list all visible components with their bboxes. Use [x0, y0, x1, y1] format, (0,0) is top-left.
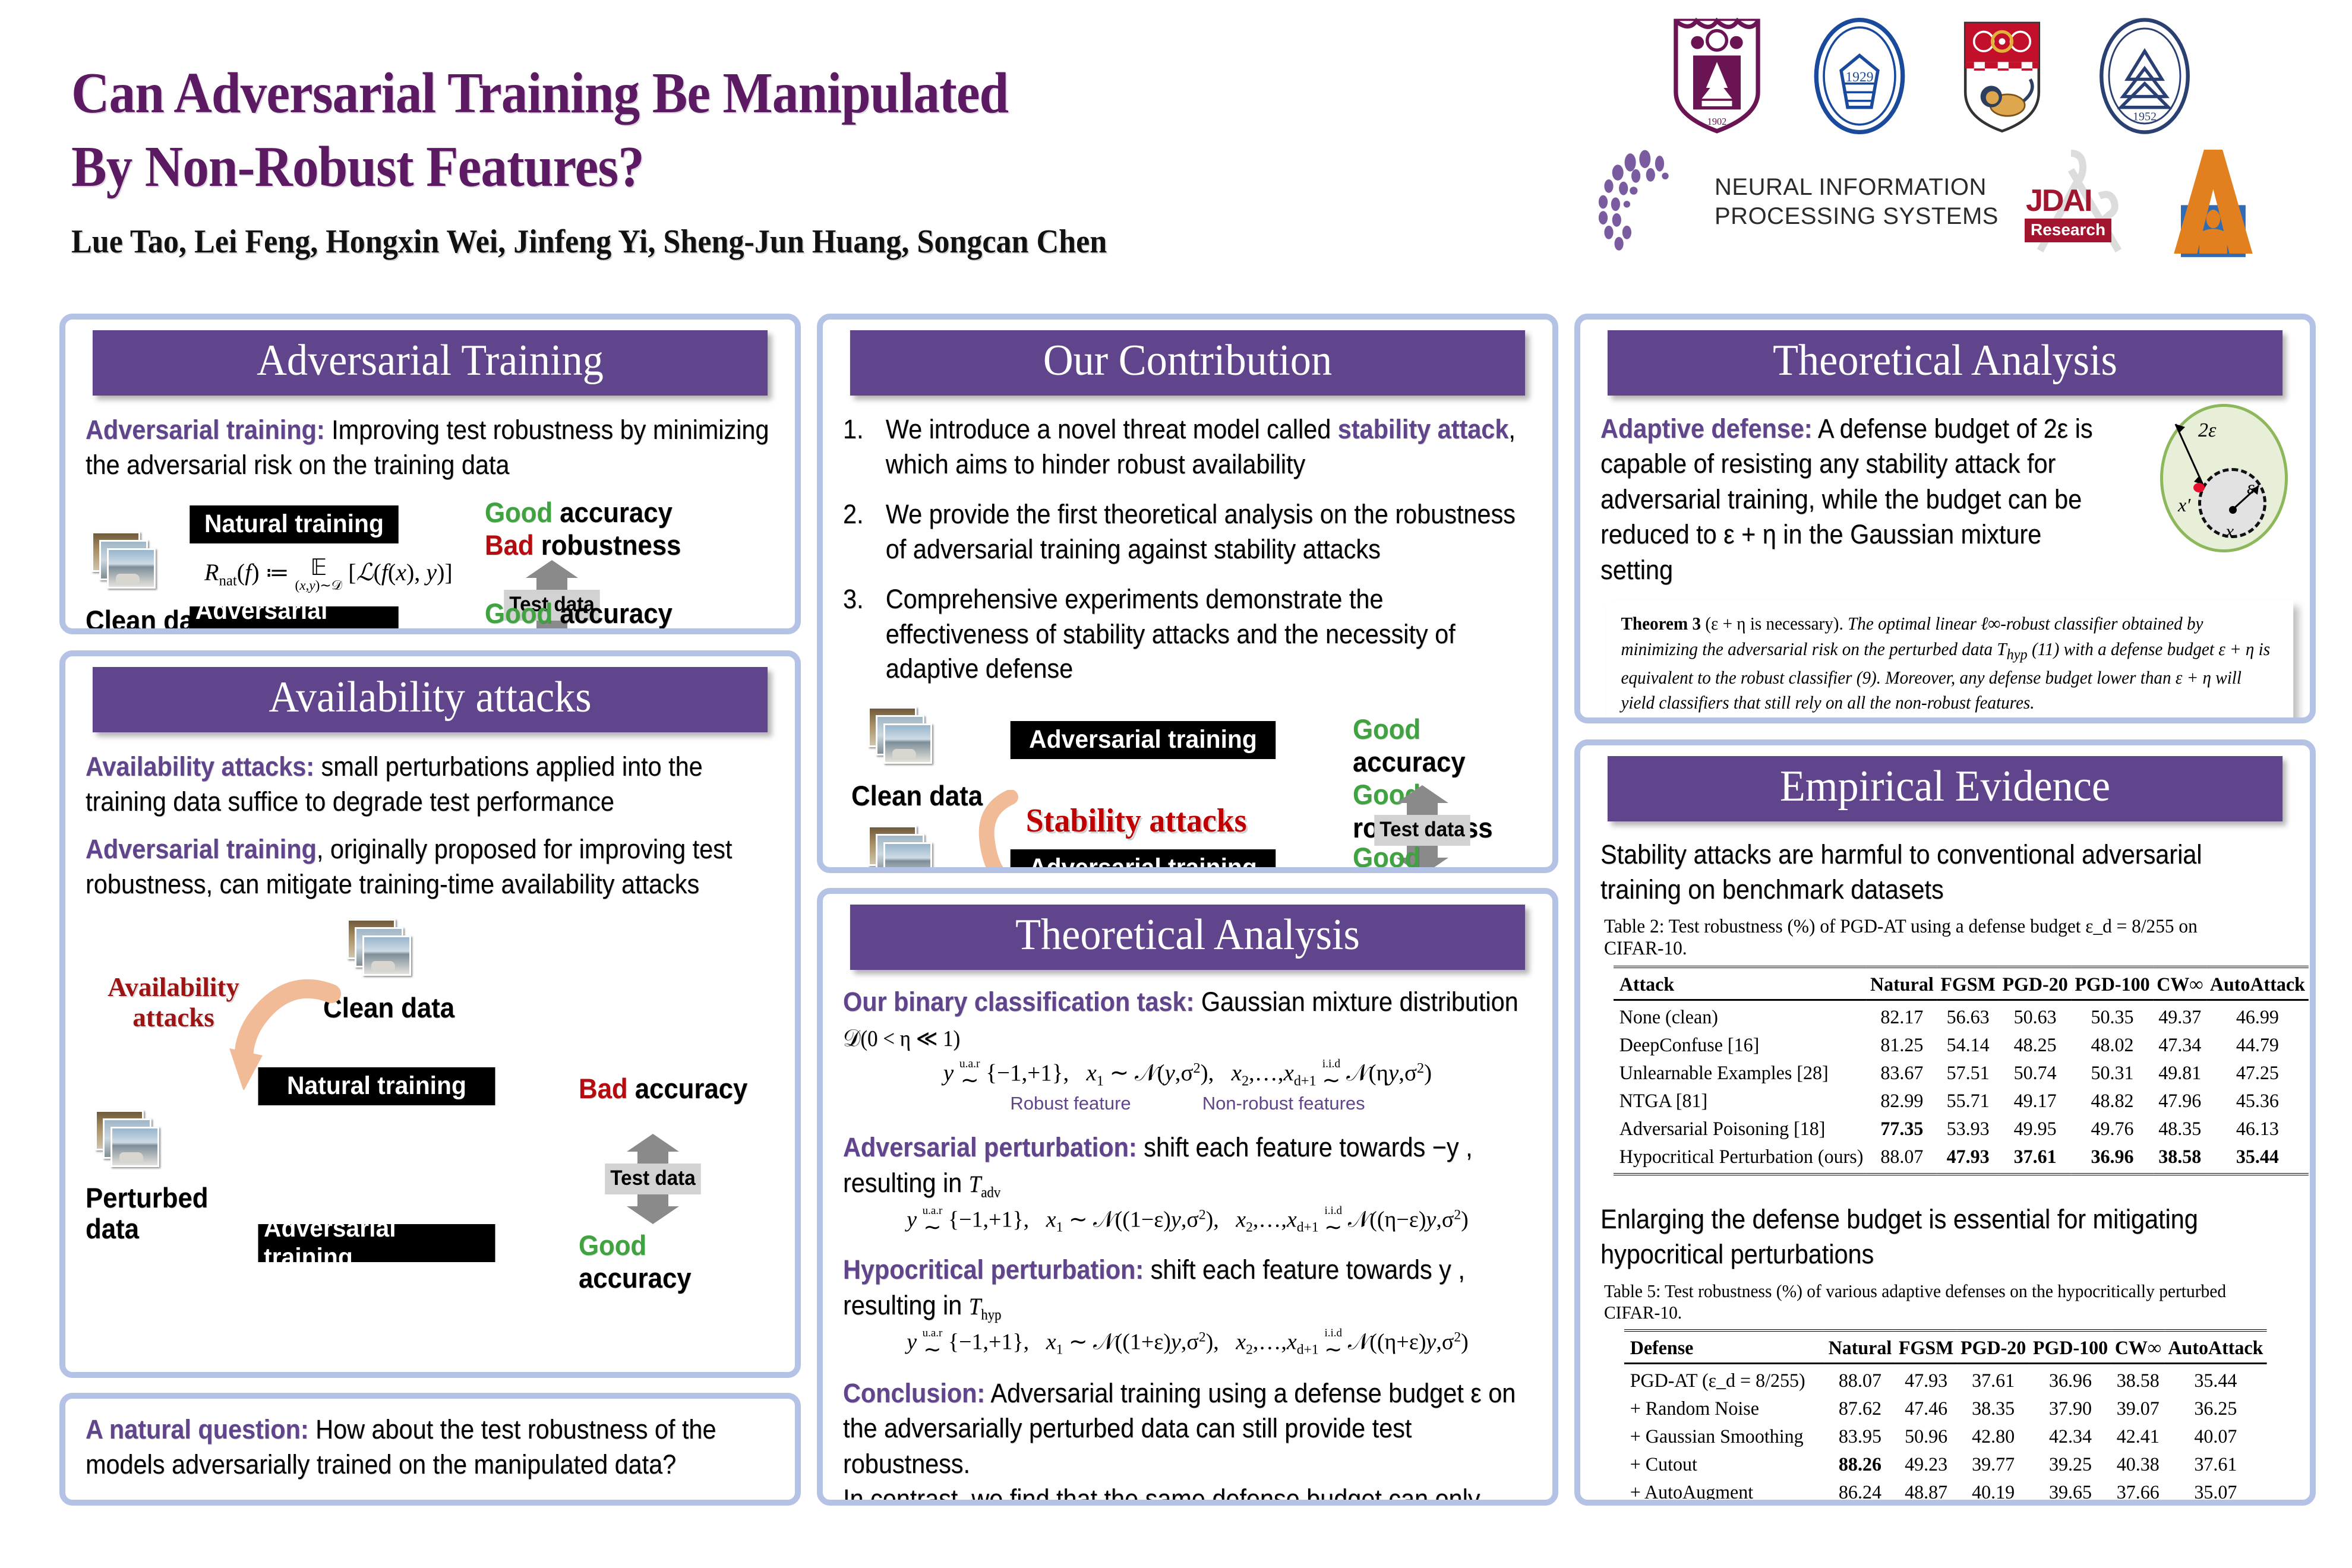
cell-value: 36.96 — [2072, 1143, 2154, 1174]
adversarial-training-arrow-label: Adversarial training — [1011, 849, 1276, 874]
col-cw: CW∞ — [2153, 967, 2206, 1000]
panel-availability-attacks: Availability attacks Availability attack… — [59, 650, 801, 1378]
col-attack: Attack — [1614, 967, 1867, 1000]
col-fgsm: FGSM — [1937, 967, 1999, 1000]
cell-value: 42.34 — [2029, 1423, 2111, 1451]
cell-value: 83.67 — [1867, 1060, 1937, 1088]
perturbed-data-image-stack — [95, 1110, 165, 1177]
panel-title-empirical-evidence: Empirical Evidence — [1608, 756, 2282, 821]
adversarial-training-outcome: Good accuracy Good robustness — [485, 597, 700, 634]
cell-value: 49.17 — [1999, 1088, 2072, 1115]
binary-task-statement: Our binary classification task: Gaussian… — [843, 984, 1532, 1055]
adversarial-training-arrow-label: Adversarial training — [1011, 721, 1276, 759]
col-autoattack: AutoAttack — [2165, 1330, 2267, 1364]
table-row: + Gaussian Smoothing83.9550.9642.8042.34… — [1624, 1423, 2266, 1451]
cell-value: 46.13 — [2206, 1115, 2309, 1143]
binary-task-lead: Our binary classification task: — [843, 987, 1194, 1017]
test-data-label: Test data — [605, 1164, 701, 1194]
row-label: Adversarial Poisoning [18] — [1614, 1115, 1867, 1143]
cell-value: 50.96 — [1895, 1423, 1957, 1451]
theorem-3-paren: (ε + η is necessary). — [1705, 613, 1843, 634]
ball-2eps-label: 2ε — [2198, 419, 2216, 442]
cell-value: 38.58 — [2111, 1363, 2165, 1395]
cell-value: 36.96 — [2029, 1363, 2111, 1395]
cell-value: 50.35 — [2072, 1000, 2154, 1032]
table-row: + AutoAugment86.2448.8740.1939.6537.6635… — [1624, 1479, 2266, 1506]
panel-title-adversarial-training: Adversarial Training — [93, 330, 768, 396]
col-defense: Defense — [1624, 1330, 1825, 1364]
panel-natural-question: A natural question: How about the test r… — [59, 1393, 801, 1506]
col-pgd20: PGD-20 — [1957, 1330, 2029, 1364]
table-2: Attack Natural FGSM PGD-20 PGD-100 CW∞ A… — [1614, 966, 2309, 1175]
table-row: Adversarial Poisoning [18]77.3553.9349.9… — [1614, 1115, 2309, 1143]
nuaa-logo: 1952 — [2085, 17, 2204, 135]
cell-value: 49.76 — [2072, 1115, 2154, 1143]
table-row: Unlearnable Examples [28]83.6757.5150.74… — [1614, 1060, 2309, 1088]
lion-shield-logo — [1943, 17, 2061, 135]
outcome-accuracy-text: accuracy — [553, 598, 673, 629]
outcome-good-robustness: Good — [485, 630, 553, 634]
test-data-indicator: Test data — [602, 1134, 703, 1224]
table-row: + Random Noise87.6247.4638.3537.9039.073… — [1624, 1395, 2266, 1423]
chongqing-university-logo: 1929 — [1800, 17, 1919, 135]
natural-training-outcome: Bad accuracy — [579, 1072, 747, 1105]
cell-value: 88.07 — [1825, 1363, 1895, 1395]
col-cw: CW∞ — [2111, 1330, 2165, 1364]
contribution-2-text: We provide the first theoretical analysi… — [886, 499, 1516, 564]
cell-value: 38.58 — [2153, 1143, 2206, 1174]
table-5-caption: Table 5: Test robustness (%) of various … — [1604, 1281, 2255, 1323]
row-label: None (clean) — [1614, 1000, 1867, 1032]
x-point — [2229, 506, 2237, 514]
cell-value: 37.90 — [2029, 1395, 2111, 1423]
cell-value: 87.62 — [1825, 1395, 1895, 1423]
panel-adversarial-training: Adversarial Training Adversarial trainin… — [59, 314, 801, 634]
panel-title-our-contribution: Our Contribution — [850, 330, 1525, 396]
adversarial-training-diagram: Clean data Natural training Good accurac… — [86, 495, 775, 634]
outcome-good-accuracy: Good — [485, 497, 553, 528]
table-2-wrapper: Attack Natural FGSM PGD-20 PGD-100 CW∞ A… — [1614, 966, 2285, 1175]
nuaa-year: 1952 — [2133, 110, 2157, 123]
panel-title-theoretical-analysis-mid: Theoretical Analysis — [850, 905, 1525, 970]
cell-value: 50.74 — [1999, 1060, 2072, 1088]
cell-value: 35.07 — [2165, 1479, 2267, 1506]
hypocritical-perturbation-lead: Hypocritical perturbation: — [843, 1254, 1144, 1285]
table-row: PGD-AT (ε_d = 8/255)88.0747.9337.6136.96… — [1624, 1363, 2266, 1395]
contribution-list: We introduce a novel threat model called… — [843, 412, 1532, 687]
cell-value: 57.51 — [1937, 1060, 1999, 1088]
outcome-robustness-text: robustness — [534, 529, 681, 561]
cell-value: 49.95 — [1999, 1115, 2072, 1143]
adversarial-training-outcome: Good accuracy — [579, 1229, 761, 1295]
outcome-good-accuracy: Good — [1353, 842, 1420, 873]
table-row: DeepConfuse [16]81.2554.1448.2548.0247.3… — [1614, 1032, 2309, 1060]
adversarial-training-arrow-label: Adversarial training — [190, 606, 399, 634]
cell-value: 49.23 — [1895, 1451, 1957, 1479]
panel-empirical-evidence: Empirical Evidence Stability attacks are… — [1574, 739, 2316, 1506]
row-label: + Cutout — [1624, 1451, 1825, 1479]
adversarial-training-arrow-bottom: Adversarial training — [1003, 849, 1283, 874]
panel-title-availability-attacks: Availability attacks — [93, 667, 768, 732]
cell-value: 77.35 — [1867, 1115, 1937, 1143]
title-line-2: By Non-Robust Features? — [71, 130, 1383, 204]
table-header-row: Defense Natural FGSM PGD-20 PGD-100 CW∞ … — [1624, 1330, 2266, 1364]
col-pgd20: PGD-20 — [1999, 967, 2072, 1000]
theory-conclusion: Conclusion: Adversarial training using a… — [843, 1376, 1532, 1481]
hyp-dataset-symbol: T — [969, 1293, 981, 1320]
contribution-1-highlight: stability attack — [1338, 414, 1509, 444]
empirical-claim-2: Enlarging the defense budget is essentia… — [1600, 1202, 2289, 1272]
col-autoattack: AutoAttack — [2206, 967, 2309, 1000]
adversarial-training-arrow-top: Adversarial training — [1003, 721, 1283, 759]
perturbed-data-image-stack — [868, 826, 938, 874]
cell-value: 47.93 — [1895, 1363, 1957, 1395]
cell-value: 36.25 — [2165, 1395, 2267, 1423]
author-list: Lue Tao, Lei Feng, Hongxin Wei, Jinfeng … — [71, 223, 1397, 261]
jdai-research-logo: JDAI Research — [2014, 148, 2145, 255]
cell-value: 44.79 — [2206, 1032, 2309, 1060]
col-fgsm: FGSM — [1895, 1330, 1957, 1364]
adversarial-training-arrow-label: Adversarial training — [258, 1224, 495, 1262]
perturbed-data-label-line2: data — [86, 1213, 208, 1245]
natural-risk-formula: Rnat(f) ≔ 𝔼(x,y)∼𝒟 [ℒ(f(x), y)] — [204, 557, 453, 593]
outcome-robustness-text: robustness — [553, 630, 700, 634]
arrow-up-icon — [1396, 785, 1448, 803]
outcome-accuracy-text: accuracy — [553, 497, 673, 528]
adversarial-perturbation-statement: Adversarial perturbation: shift each fea… — [843, 1130, 1532, 1203]
outcome-bad-robustness: Bad — [485, 529, 534, 561]
robust-feature-label: Robust feature — [1010, 1093, 1131, 1114]
adaptive-defense-statement: Adaptive defense: A defense budget of 2ε… — [1600, 411, 2095, 587]
non-robust-features-label: Non-robust features — [1202, 1093, 1365, 1114]
cell-value: 53.93 — [1937, 1115, 1999, 1143]
page-title: Can Adversarial Training Be Manipulated … — [71, 56, 1383, 204]
cell-value: 49.37 — [2153, 1000, 2206, 1032]
a-institute-logo — [2160, 147, 2264, 257]
gaussian-mixture-formula: y u.a.r∼ {−1,+1}, x1 ∼ 𝒩(y,σ2), x2,…,xd+… — [843, 1058, 1532, 1092]
row-label: + AutoAugment — [1624, 1479, 1825, 1506]
stability-attacks-annotation: Stability attacks — [1026, 802, 1247, 840]
binary-task-rest: Gaussian mixture distribution — [1194, 987, 1518, 1017]
panel-theoretical-analysis-mid: Theoretical Analysis Our binary classifi… — [817, 888, 1558, 1506]
arrow-down-icon — [627, 1206, 679, 1224]
row-label: NTGA [81] — [1614, 1088, 1867, 1115]
cell-value: 46.99 — [2206, 1000, 2309, 1032]
natural-training-arrow-label: Natural training — [190, 505, 399, 543]
natural-training-arrow-label: Natural training — [258, 1067, 495, 1105]
outcome-bad-accuracy: Bad — [579, 1073, 628, 1104]
cell-value: 37.61 — [2165, 1451, 2267, 1479]
col-natural: Natural — [1867, 967, 1937, 1000]
theory-conclusion-line2-wrap: In contrast, we find that the same defen… — [843, 1481, 1532, 1506]
availability-attacks-p2: Adversarial training, originally propose… — [86, 832, 774, 902]
cell-value: 39.77 — [1957, 1451, 2029, 1479]
cell-value: 48.35 — [2153, 1115, 2206, 1143]
col-pgd100: PGD-100 — [2072, 967, 2154, 1000]
cell-value: 37.61 — [1957, 1363, 2029, 1395]
cell-value: 47.34 — [2153, 1032, 2206, 1060]
availability-attacks-p1-lead: Availability attacks: — [86, 751, 314, 782]
cell-value: 55.71 — [1937, 1088, 1999, 1115]
cell-value: 50.31 — [2072, 1060, 2154, 1088]
outcome-good-accuracy: Good — [485, 598, 553, 629]
table-row: + Cutout88.2649.2339.7739.2540.3837.61 — [1624, 1451, 2266, 1479]
poster-header: Can Adversarial Training Be Manipulated … — [0, 0, 2352, 297]
cell-value: 47.96 — [2153, 1088, 2206, 1115]
cell-value: 48.25 — [1999, 1032, 2072, 1060]
table-row: None (clean)82.1756.6350.6350.3549.3746.… — [1614, 1000, 2309, 1032]
table-row: Hypocritical Perturbation (ours)88.0747.… — [1614, 1143, 2309, 1174]
ball-arrows-icon — [2157, 404, 2293, 552]
cell-value: 40.19 — [1957, 1479, 2029, 1506]
university-logos: 1902 1929 — [1658, 12, 2311, 140]
natural-question-lead: A natural question: — [86, 1414, 309, 1444]
hypocritical-perturbation-statement: Hypocritical perturbation: shift each fe… — [843, 1252, 1532, 1325]
table-2-body: None (clean)82.1756.6350.6350.3549.3746.… — [1614, 1000, 2309, 1174]
chongqing-year: 1929 — [1845, 69, 1873, 85]
list-item: We introduce a novel threat model called… — [843, 412, 1532, 482]
availability-attacks-diagram: Clean data Availability attacks Perturbe… — [86, 914, 775, 1330]
our-contribution-diagram: Clean data Adversarial training Good acc… — [843, 702, 1532, 874]
adversarial-training-arrow: Adversarial training — [184, 606, 404, 634]
perturbed-data-label-line1: Perturbed — [86, 1183, 208, 1214]
table-header-row: Attack Natural FGSM PGD-20 PGD-100 CW∞ A… — [1614, 967, 2309, 1000]
adversarial-training-arrow: Adversarial training — [252, 1224, 501, 1262]
jdai-research-label: Research — [2025, 219, 2111, 242]
natural-question-text: A natural question: How about the test r… — [86, 1412, 774, 1482]
cell-value: 48.82 — [2072, 1088, 2154, 1115]
availability-attacks-p2-lead: Adversarial training — [86, 834, 317, 864]
cell-value: 49.81 — [2153, 1060, 2206, 1088]
outcome-good-accuracy: Good — [1353, 713, 1420, 745]
adversarial-perturbation-lead: Adversarial perturbation: — [843, 1132, 1137, 1162]
adversarial-training-intro: Adversarial training: Improving test rob… — [86, 412, 774, 483]
hyp-dataset-subscript: hyp — [981, 1307, 1001, 1323]
cell-value: 40.07 — [2165, 1423, 2267, 1451]
table-5-body: PGD-AT (ε_d = 8/255)88.0747.9337.6136.96… — [1624, 1363, 2266, 1506]
row-label: + Gaussian Smoothing — [1624, 1423, 1825, 1451]
epsilon-ball-diagram: 2ε ε x′ x — [2157, 404, 2293, 552]
adv-dataset-symbol: T — [969, 1171, 981, 1197]
adv-dataset-subscript: adv — [981, 1184, 1000, 1200]
list-item: We provide the first theoretical analysi… — [843, 497, 1532, 567]
cell-value: 35.44 — [2165, 1363, 2267, 1395]
panel-theoretical-analysis-right: Theoretical Analysis Adaptive defense: A… — [1574, 314, 2316, 723]
cell-value: 83.95 — [1825, 1423, 1895, 1451]
table-row: NTGA [81]82.9955.7149.1748.8247.9645.36 — [1614, 1088, 2309, 1115]
cell-value: 47.93 — [1937, 1143, 1999, 1174]
cell-value: 81.25 — [1867, 1032, 1937, 1060]
row-label: PGD-AT (ε_d = 8/255) — [1624, 1363, 1825, 1395]
neurips-dots-icon — [1586, 146, 1699, 258]
table-5: Defense Natural FGSM PGD-20 PGD-100 CW∞ … — [1624, 1329, 2266, 1506]
natural-training-outcome: Good accuracy Bad robustness — [485, 496, 681, 562]
cell-value: 45.36 — [2206, 1088, 2309, 1115]
table-5-wrapper: Defense Natural FGSM PGD-20 PGD-100 CW∞ … — [1624, 1329, 2275, 1506]
cell-value: 40.38 — [2111, 1451, 2165, 1479]
outcome-good-accuracy: Good — [579, 1229, 646, 1261]
cell-value: 39.07 — [2111, 1395, 2165, 1423]
natural-training-arrow: Natural training — [252, 1067, 501, 1105]
row-label: Unlearnable Examples [28] — [1614, 1060, 1867, 1088]
cell-value: 86.24 — [1825, 1479, 1895, 1506]
clean-data-image-stack — [868, 707, 938, 773]
theory-conclusion-lead: Conclusion: — [843, 1378, 985, 1408]
cell-value: 88.26 — [1825, 1451, 1895, 1479]
neurips-line-1: NEURAL INFORMATION — [1715, 173, 1999, 202]
panel-our-contribution: Our Contribution We introduce a novel th… — [817, 314, 1558, 873]
cell-value: 39.65 — [2029, 1479, 2111, 1506]
ball-eps-label: ε — [2247, 476, 2255, 498]
hypocritical-perturbation-formula: y u.a.r∼ {−1,+1}, x1 ∼ 𝒩((1+ε)y,σ2), x2,… — [843, 1327, 1532, 1360]
cell-value: 48.87 — [1895, 1479, 1957, 1506]
cell-value: 54.14 — [1937, 1032, 1999, 1060]
row-label: + Random Noise — [1624, 1395, 1825, 1423]
perturbed-data-label: Perturbed data — [86, 1183, 208, 1245]
title-line-1: Can Adversarial Training Be Manipulated — [71, 56, 1383, 130]
cell-value: 88.07 — [1867, 1143, 1937, 1174]
empirical-claim-1: Stability attacks are harmful to convent… — [1600, 837, 2289, 908]
clean-data-label: Clean data — [851, 779, 983, 812]
cell-value: 47.25 — [2206, 1060, 2309, 1088]
cell-value: 42.80 — [1957, 1423, 2029, 1451]
cell-value: 42.41 — [2111, 1423, 2165, 1451]
cell-value: 39.25 — [2029, 1451, 2111, 1479]
theorem-3-box: Theorem 3 (ε + η is necessary). The opti… — [1606, 600, 2293, 723]
row-label: DeepConfuse [16] — [1614, 1032, 1867, 1060]
cell-value: 82.99 — [1867, 1088, 1937, 1115]
arrow-down-icon — [526, 633, 578, 634]
theorem-3-heading: Theorem 3 — [1621, 613, 1701, 634]
col-natural: Natural — [1825, 1330, 1895, 1364]
cell-value: 56.63 — [1937, 1000, 1999, 1032]
arrow-up-icon — [526, 560, 578, 578]
ball-x-label: x — [2225, 520, 2234, 542]
clean-data-image-stack — [347, 919, 417, 985]
availability-attacks-p1: Availability attacks: small perturbation… — [86, 749, 774, 820]
neurips-wordmark: NEURAL INFORMATION PROCESSING SYSTEMS — [1715, 173, 1999, 231]
contribution-1-pre: We introduce a novel threat model called — [886, 414, 1338, 444]
adversarial-perturbation-formula: y u.a.r∼ {−1,+1}, x1 ∼ 𝒩((1−ε)y,σ2), x2,… — [843, 1205, 1532, 1238]
row-label: Hypocritical Perturbation (ours) — [1614, 1143, 1867, 1174]
theory-conclusion-line2: In contrast, we find that the same defen… — [843, 1484, 1480, 1506]
adaptive-defense-lead: Adaptive defense: — [1600, 413, 1813, 444]
ball-x-prime-label: x′ — [2178, 494, 2190, 516]
cell-value: 37.66 — [2111, 1479, 2165, 1506]
col-pgd100: PGD-100 — [2029, 1330, 2111, 1364]
arrow-up-icon — [627, 1134, 679, 1152]
cell-value: 48.02 — [2072, 1032, 2154, 1060]
panel-title-theoretical-analysis-right: Theoretical Analysis — [1608, 330, 2282, 396]
conference-logos: NEURAL INFORMATION PROCESSING SYSTEMS JD… — [1586, 143, 2317, 261]
cell-value: 82.17 — [1867, 1000, 1937, 1032]
contribution-3-text: Comprehensive experiments demonstrate th… — [886, 584, 1456, 684]
binary-task-condition: (0 < η ≪ 1) — [860, 1026, 960, 1051]
cell-value: 38.35 — [1957, 1395, 2029, 1423]
outcome-accuracy-text: accuracy — [579, 1262, 692, 1294]
cell-value: 47.46 — [1895, 1395, 1957, 1423]
x-prime-point — [2193, 483, 2205, 492]
contribution-outcome-bottom: Good accuracy Bad Robustness ? — [1353, 841, 1520, 874]
outcome-accuracy-text: accuracy — [628, 1073, 748, 1104]
poster-root: Can Adversarial Training Be Manipulated … — [0, 0, 2352, 1568]
jdai-wordmark: JDAI — [2026, 183, 2091, 219]
cell-value: 37.61 — [1999, 1143, 2072, 1174]
cell-value: 35.44 — [2206, 1143, 2309, 1174]
nanjing-university-logo: 1902 — [1658, 17, 1776, 135]
clean-data-image-stack — [91, 532, 162, 598]
cell-value: 50.63 — [1999, 1000, 2072, 1032]
table-2-caption: Table 2: Test robustness (%) of PGD-AT u… — [1604, 916, 2255, 960]
natural-training-arrow: Natural training — [184, 505, 404, 543]
outcome-accuracy-text: accuracy — [1353, 746, 1466, 777]
neurips-line-2: PROCESSING SYSTEMS — [1715, 202, 1999, 231]
list-item: Comprehensive experiments demonstrate th… — [843, 582, 1532, 687]
adversarial-training-intro-lead: Adversarial training: — [86, 415, 325, 445]
nanjing-year: 1902 — [1707, 115, 1727, 127]
